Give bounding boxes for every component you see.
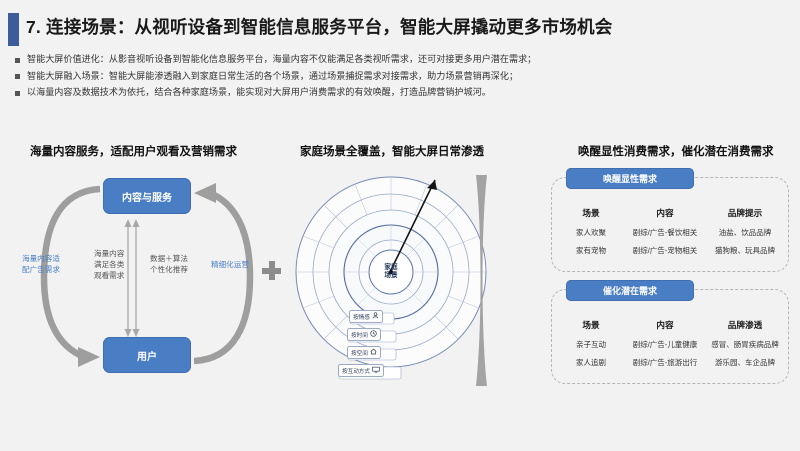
cell-content: 剧综/广告-宠物相关 [622, 241, 708, 258]
cell-brand: 游乐园、车企品牌 [708, 353, 782, 370]
table-header-row: 场景 内容 品牌提示 [560, 204, 782, 224]
plus-icon [262, 261, 281, 280]
list-item: 以海量内容及数据技术为依托，结合各种家庭场景，能实现对大屏用户消费需求的有效唤醒… [12, 86, 792, 99]
wheel-core-label: 家庭 场景 [368, 249, 414, 295]
bullet-square-icon [15, 91, 20, 96]
left-panel-title: 海量内容服务，适配用户观看及营销需求 [30, 143, 237, 159]
clock-icon [370, 330, 377, 339]
bullet-text: 智能大屏价值进化：从影音视听设备到智能化信息服务平台，海量内容不仅能满足各类视听… [27, 53, 536, 66]
node-user[interactable]: 用户 [103, 337, 191, 373]
card-badge-explicit[interactable]: 唤醒显性需求 [566, 168, 694, 189]
table-row: 家有宠物 剧综/广告-宠物相关 猫狗粮、玩具品牌 [560, 241, 782, 258]
cell-content: 剧综/广告-旅游出行 [622, 353, 708, 370]
col-header-content: 内容 [622, 204, 708, 224]
col-header-brand: 品牌提示 [708, 204, 782, 224]
screen-icon [372, 366, 380, 375]
cell-scene: 家有宠物 [560, 241, 622, 258]
home-icon [370, 348, 377, 357]
slide-canvas: 7. 连接场景：从视听设备到智能信息服务平台，智能大屏撬动更多市场机会 智能大屏… [0, 0, 800, 451]
node-user-label: 用户 [137, 348, 157, 363]
page-title: 7. 连接场景：从视听设备到智能信息服务平台，智能大屏撬动更多市场机会 [26, 14, 786, 39]
ring-label-text: 按时间 [351, 331, 368, 339]
ring-label-by-emotion[interactable]: 按情感 [349, 310, 383, 323]
core-line: 场景 [384, 272, 397, 281]
core-line: 家庭 [384, 264, 397, 273]
label-line: 满足各类 [94, 259, 124, 270]
table-explicit-demand: 场景 内容 品牌提示 家人欢聚 剧综/广告-餐饮相关 油盐、饮品品牌 家有宠物 … [560, 204, 782, 259]
card-explicit-demand: 唤醒显性需求 场景 内容 品牌提示 家人欢聚 剧综/广告-餐饮相关 油盐、饮品品… [551, 177, 789, 272]
demand-cards-panel: 唤醒显性需求 场景 内容 品牌提示 家人欢聚 剧综/广告-餐饮相关 油盐、饮品品… [545, 165, 795, 395]
card-badge-potential[interactable]: 催化潜在需求 [566, 280, 694, 301]
section-divider-arrow [466, 173, 496, 388]
ring-label-by-interaction[interactable]: 按互动方式 [338, 364, 384, 377]
title-accent-bar [8, 13, 19, 46]
cell-scene: 亲子互动 [560, 336, 622, 353]
mid-panel-title: 家庭场景全覆盖，智能大屏日常渗透 [300, 143, 484, 159]
table-header-row: 场景 内容 品牌渗透 [560, 316, 782, 336]
ring-label-text: 按情感 [353, 313, 370, 321]
table-potential-demand: 场景 内容 品牌渗透 亲子互动 剧综/广告-儿童健康 感冒、肠胃疾病品牌 家人追… [560, 316, 782, 371]
ring-label-text: 按互动方式 [342, 367, 370, 375]
label-data-algorithm: 数据＋算法 个性化推荐 [150, 253, 188, 275]
family-scenario-wheel: 家庭 场景 按情感 按时间 按空间 按互动方式 [294, 165, 494, 390]
ring-label-text: 按空间 [351, 349, 368, 357]
bullet-square-icon [15, 58, 20, 63]
cell-brand: 油盐、饮品品牌 [708, 224, 782, 241]
col-header-scene: 场景 [560, 316, 622, 336]
label-content-ad-demand: 海量内容适 配广告需求 [22, 253, 60, 275]
list-item: 智能大屏融入场景：智能大屏能渗透融入到家庭日常生活的各个场景，通过场景捕捉需求对… [12, 70, 792, 83]
emotion-person-icon [372, 312, 379, 321]
ring-label-by-time[interactable]: 按时间 [347, 328, 381, 341]
cell-content: 剧综/广告-儿童健康 [622, 336, 708, 353]
cell-scene: 家人欢聚 [560, 224, 622, 241]
card-potential-demand: 催化潜在需求 场景 内容 品牌渗透 亲子互动 剧综/广告-儿童健康 感冒、肠胃疾… [551, 289, 789, 384]
cell-content: 剧综/广告-餐饮相关 [622, 224, 708, 241]
cell-brand: 猫狗粮、玩具品牌 [708, 241, 782, 258]
node-content-label: 内容与服务 [122, 189, 172, 204]
label-line: 观看需求 [94, 270, 124, 281]
bullet-list: 智能大屏价值进化：从影音视听设备到智能化信息服务平台，海量内容不仅能满足各类视听… [12, 53, 792, 103]
table-row: 家人追剧 剧综/广告-旅游出行 游乐园、车企品牌 [560, 353, 782, 370]
col-header-content: 内容 [622, 316, 708, 336]
node-content-and-service[interactable]: 内容与服务 [103, 178, 191, 214]
content-user-cycle-diagram: 内容与服务 用户 海量内容适 配广告需求 海量内容 满足各类 观看需求 数据＋算… [8, 165, 283, 390]
bullet-text: 以海量内容及数据技术为依托，结合各种家庭场景，能实现对大屏用户消费需求的有效唤醒… [27, 86, 491, 99]
label-massive-content-demand: 海量内容 满足各类 观看需求 [94, 248, 124, 281]
list-item: 智能大屏价值进化：从影音视听设备到智能化信息服务平台，海量内容不仅能满足各类视听… [12, 53, 792, 66]
label-line: 海量内容适 [22, 253, 60, 264]
label-line: 个性化推荐 [150, 264, 188, 275]
ring-label-by-space[interactable]: 按空间 [347, 346, 381, 359]
label-line: 数据＋算法 [150, 253, 188, 264]
label-refined-operation: 精细化运营 [211, 259, 249, 270]
col-header-scene: 场景 [560, 204, 622, 224]
cell-brand: 感冒、肠胃疾病品牌 [708, 336, 782, 353]
cell-scene: 家人追剧 [560, 353, 622, 370]
bullet-text: 智能大屏融入场景：智能大屏能渗透融入到家庭日常生活的各个场景，通过场景捕捉需求对… [27, 70, 518, 83]
label-line: 海量内容 [94, 248, 124, 259]
right-panel-title: 唤醒显性消费需求，催化潜在消费需求 [578, 143, 774, 159]
col-header-brand: 品牌渗透 [708, 316, 782, 336]
table-row: 亲子互动 剧综/广告-儿童健康 感冒、肠胃疾病品牌 [560, 336, 782, 353]
label-line: 配广告需求 [22, 264, 60, 275]
table-row: 家人欢聚 剧综/广告-餐饮相关 油盐、饮品品牌 [560, 224, 782, 241]
bullet-square-icon [15, 74, 20, 79]
